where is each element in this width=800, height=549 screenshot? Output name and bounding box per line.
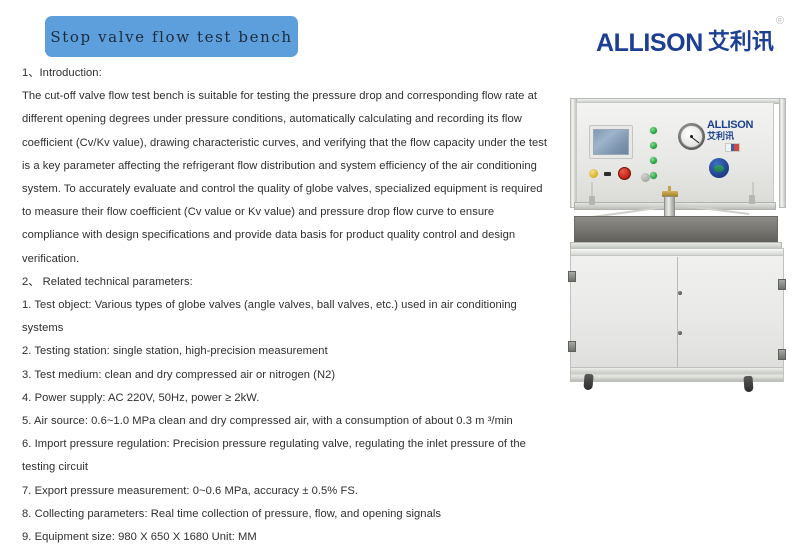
panel-label-sticker	[725, 143, 740, 152]
stainless-worktop	[574, 216, 778, 244]
text-line-7: 4. Power supply: AC 220V, 50Hz, power ≥ …	[22, 387, 548, 410]
text-line-10: 7. Export pressure measurement: 0~0.6 MP…	[22, 480, 548, 503]
cabinet-hinge-3	[778, 279, 786, 290]
door-latch-lower[interactable]	[678, 331, 682, 335]
panel-logo-cjk: 艾利讯	[707, 132, 753, 142]
pressure-gauge-icon	[678, 123, 705, 150]
cabinet-hinge-1	[568, 271, 576, 282]
text-line-12: 9. Equipment size: 980 X 650 X 1680 Unit…	[22, 526, 548, 549]
page-title-badge: Stop valve flow test bench	[45, 16, 298, 57]
panel-brand-logo: ALLISON 艾利讯	[707, 120, 753, 142]
hose-fitting-right	[749, 195, 755, 204]
gauge-hub	[690, 135, 693, 138]
selector-knob[interactable]	[589, 169, 598, 178]
indicator-lamp-3	[650, 157, 657, 164]
brand-logo-cjk: 艾利讯	[708, 30, 774, 56]
indicator-lamp-1	[650, 127, 657, 134]
hose-fitting-left	[589, 196, 595, 205]
brand-logo: ALLISON 艾利讯 ®	[596, 22, 784, 56]
text-line-3: 2、 Related technical parameters:	[22, 271, 548, 294]
caster-left	[583, 374, 593, 391]
text-line-2: The cut-off valve flow test bench is sui…	[22, 85, 548, 271]
description-text: 1、Introduction: The cut-off valve flow t…	[22, 62, 548, 549]
indicator-lamp-2	[650, 142, 657, 149]
page-title: Stop valve flow test bench	[50, 28, 292, 46]
lower-cabinet	[570, 248, 784, 382]
panel-port	[641, 173, 650, 182]
caster-right	[743, 376, 753, 393]
text-line-11: 8. Collecting parameters: Real time coll…	[22, 503, 548, 526]
hmi-touch-screen[interactable]	[589, 125, 633, 159]
text-line-1: 1、Introduction:	[22, 62, 548, 85]
text-line-4: 1. Test object: Various types of globe v…	[22, 294, 548, 340]
black-switch[interactable]	[604, 172, 611, 176]
emergency-stop-button[interactable]	[618, 167, 631, 180]
panel-logo-latin: ALLISON	[707, 120, 753, 131]
frame-post-right	[779, 98, 786, 208]
gauge-face	[680, 125, 703, 148]
cabinet-hinge-2	[568, 341, 576, 352]
indicator-lamp-4	[650, 172, 657, 179]
cabinet-door-seam	[677, 257, 678, 368]
registered-trademark-icon: ®	[776, 16, 784, 27]
test-bench-machine: ALLISON 艾利讯	[556, 74, 800, 409]
text-line-9: 6. Import pressure regulation: Precision…	[22, 433, 548, 479]
product-photo: ALLISON 艾利讯	[556, 74, 800, 409]
certification-sticker-icon	[709, 158, 729, 178]
brand-logo-latin: ALLISON	[596, 30, 703, 56]
cabinet-hinge-4	[778, 349, 786, 360]
text-line-6: 3. Test medium: clean and dry compressed…	[22, 364, 548, 387]
door-latch-upper[interactable]	[678, 291, 682, 295]
text-line-5: 2. Testing station: single station, high…	[22, 340, 548, 363]
text-line-8: 5. Air source: 0.6~1.0 MPa clean and dry…	[22, 410, 548, 433]
cabinet-top-rail	[571, 249, 783, 256]
hmi-screen-glass	[593, 129, 629, 155]
